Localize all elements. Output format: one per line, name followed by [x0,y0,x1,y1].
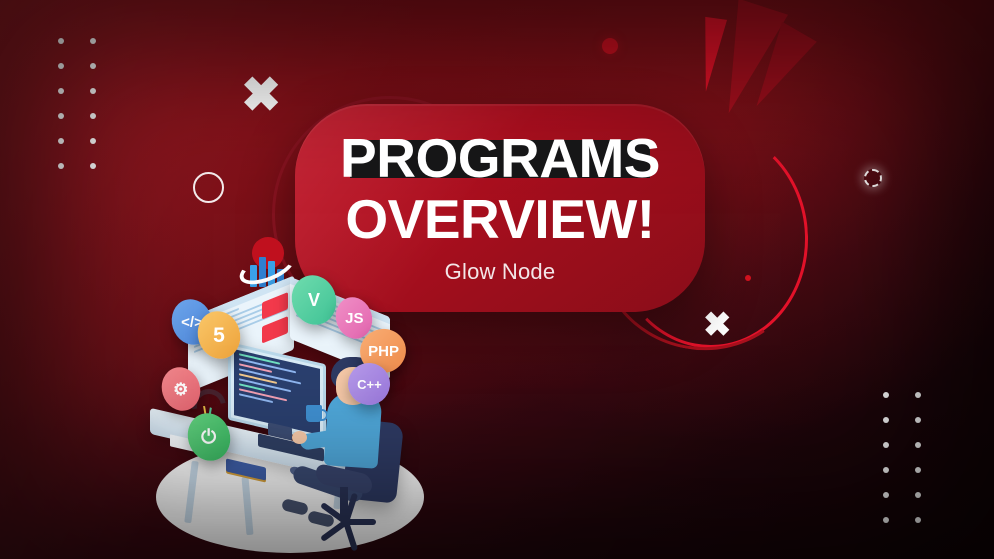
x-icon: ✖ [241,72,281,120]
dot-grid-top-left [58,38,96,169]
page-title-line-2: OVERVIEW! [345,190,654,249]
office-chair-base [312,515,382,531]
person-hand [292,431,307,444]
coffee-mug [306,405,322,422]
banner-subtitle: Glow Node [445,259,556,285]
red-dot [602,38,618,54]
gear-badge-label: ⚙ [173,381,188,398]
banner-canvas: ✖ ✖ PROGRAMS OVERVIEW! Glow Node [0,0,994,559]
page-title-line-1: PROGRAMS [340,127,660,189]
cpp-badge-label: C++ [357,378,382,391]
php-badge-label: PHP [368,344,399,359]
js-badge-label: JS [345,311,363,326]
title-card: PROGRAMS OVERVIEW! Glow Node [295,104,705,312]
title-line-1-wrap: PROGRAMS [336,131,664,186]
circle-outline-icon [193,172,224,203]
html5-badge-label: 5 [213,325,225,346]
power-badge-label: ⏻ [201,428,216,447]
dot-grid-bottom-right [883,392,921,523]
glow-ring-icon [858,163,888,193]
